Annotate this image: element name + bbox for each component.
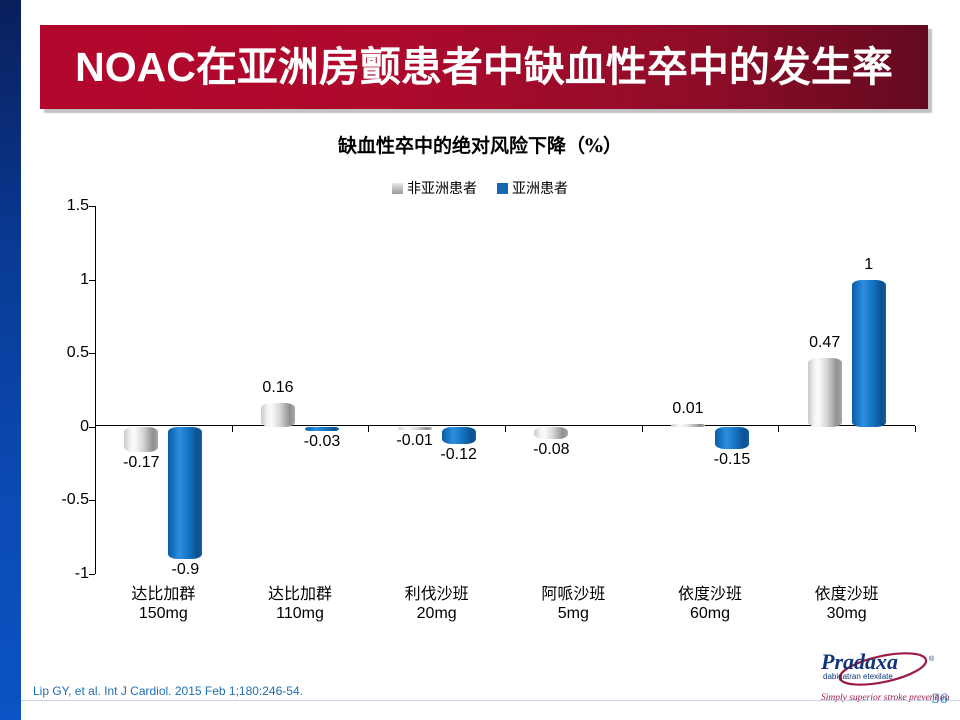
x-axis-tick [915,426,916,432]
x-axis-category-label: 达比加群110mg [230,584,370,624]
bar-value-label: -0.17 [106,454,176,472]
bar-asian[interactable] [305,427,339,431]
bar-value-label: -0.03 [287,433,357,451]
bar-asian[interactable] [852,280,886,427]
svg-text:dabigatran etexilate: dabigatran etexilate [823,672,893,681]
x-axis-tick [95,426,96,432]
category-dose: 60mg [640,604,780,624]
bar-value-label: 0.01 [653,400,723,418]
bar-value-label: 1 [834,256,904,274]
y-axis-tick-label: 0 [20,418,89,436]
y-axis-tick-label: 1 [20,271,89,289]
x-axis-category-label: 阿哌沙班5mg [503,584,643,624]
x-axis-category-label: 利伐沙班20mg [367,584,507,624]
bar-non-asian[interactable] [808,358,842,427]
bar-asian[interactable] [715,427,749,449]
citation-text: Lip GY, et al. Int J Cardiol. 2015 Feb 1… [33,684,303,698]
bar-value-label: -0.12 [424,446,494,464]
y-axis-tick [89,574,95,575]
bar-non-asian[interactable] [261,403,295,427]
bar-value-label: -0.15 [697,451,767,469]
page-number: 36 [931,692,948,707]
category-drug-name: 阿哌沙班 [503,584,643,604]
x-axis-tick [642,426,643,432]
bar-value-label: -0.08 [516,441,586,459]
bar-value-label: -0.9 [150,561,220,579]
bar-non-asian[interactable] [398,427,432,430]
svg-text:Pradaxa: Pradaxa [820,649,898,674]
y-axis-tick-label: -1 [20,565,89,583]
svg-text:®: ® [929,655,935,663]
y-axis-tick [89,206,95,207]
bar-value-label: 0.47 [790,334,860,352]
footer-divider [21,700,960,701]
category-drug-name: 达比加群 [230,584,370,604]
x-axis-tick [368,426,369,432]
x-axis-category-label: 依度沙班30mg [777,584,917,624]
category-drug-name: 依度沙班 [640,584,780,604]
y-axis-tick [89,280,95,281]
x-axis-category-label: 依度沙班60mg [640,584,780,624]
y-axis-tick-label: 0.5 [20,344,89,362]
bar-non-asian[interactable] [534,427,568,439]
category-drug-name: 依度沙班 [777,584,917,604]
category-dose: 110mg [230,604,370,624]
slide-canvas: NOAC在亚洲房颤患者中缺血性卒中的发生率 缺血性卒中的绝对风险下降（%） 非亚… [0,0,960,720]
bar-non-asian[interactable] [124,427,158,452]
category-drug-name: 达比加群 [93,584,233,604]
y-axis-tick [89,353,95,354]
pradaxa-logo: Pradaxa ® dabigatran etexilate Simply su… [805,645,950,707]
chart-plot-area: 1.510.50-0.5-1 -0.170.16-0.01-0.080.010.… [0,0,960,720]
svg-text:Simply superior stroke prevent: Simply superior stroke prevention [821,693,950,703]
x-axis-tick [505,426,506,432]
y-axis-tick [89,500,95,501]
x-axis-tick [778,426,779,432]
bar-asian[interactable] [168,427,202,559]
category-dose: 20mg [367,604,507,624]
x-axis-category-label: 达比加群150mg [93,584,233,624]
y-axis-tick-label: -0.5 [20,491,89,509]
category-drug-name: 利伐沙班 [367,584,507,604]
bar-value-label: 0.16 [243,379,313,397]
y-axis-line [95,206,96,574]
category-dose: 150mg [93,604,233,624]
category-dose: 5mg [503,604,643,624]
x-axis-tick [232,426,233,432]
bar-non-asian[interactable] [671,424,705,427]
category-dose: 30mg [777,604,917,624]
y-axis-tick-label: 1.5 [20,197,89,215]
